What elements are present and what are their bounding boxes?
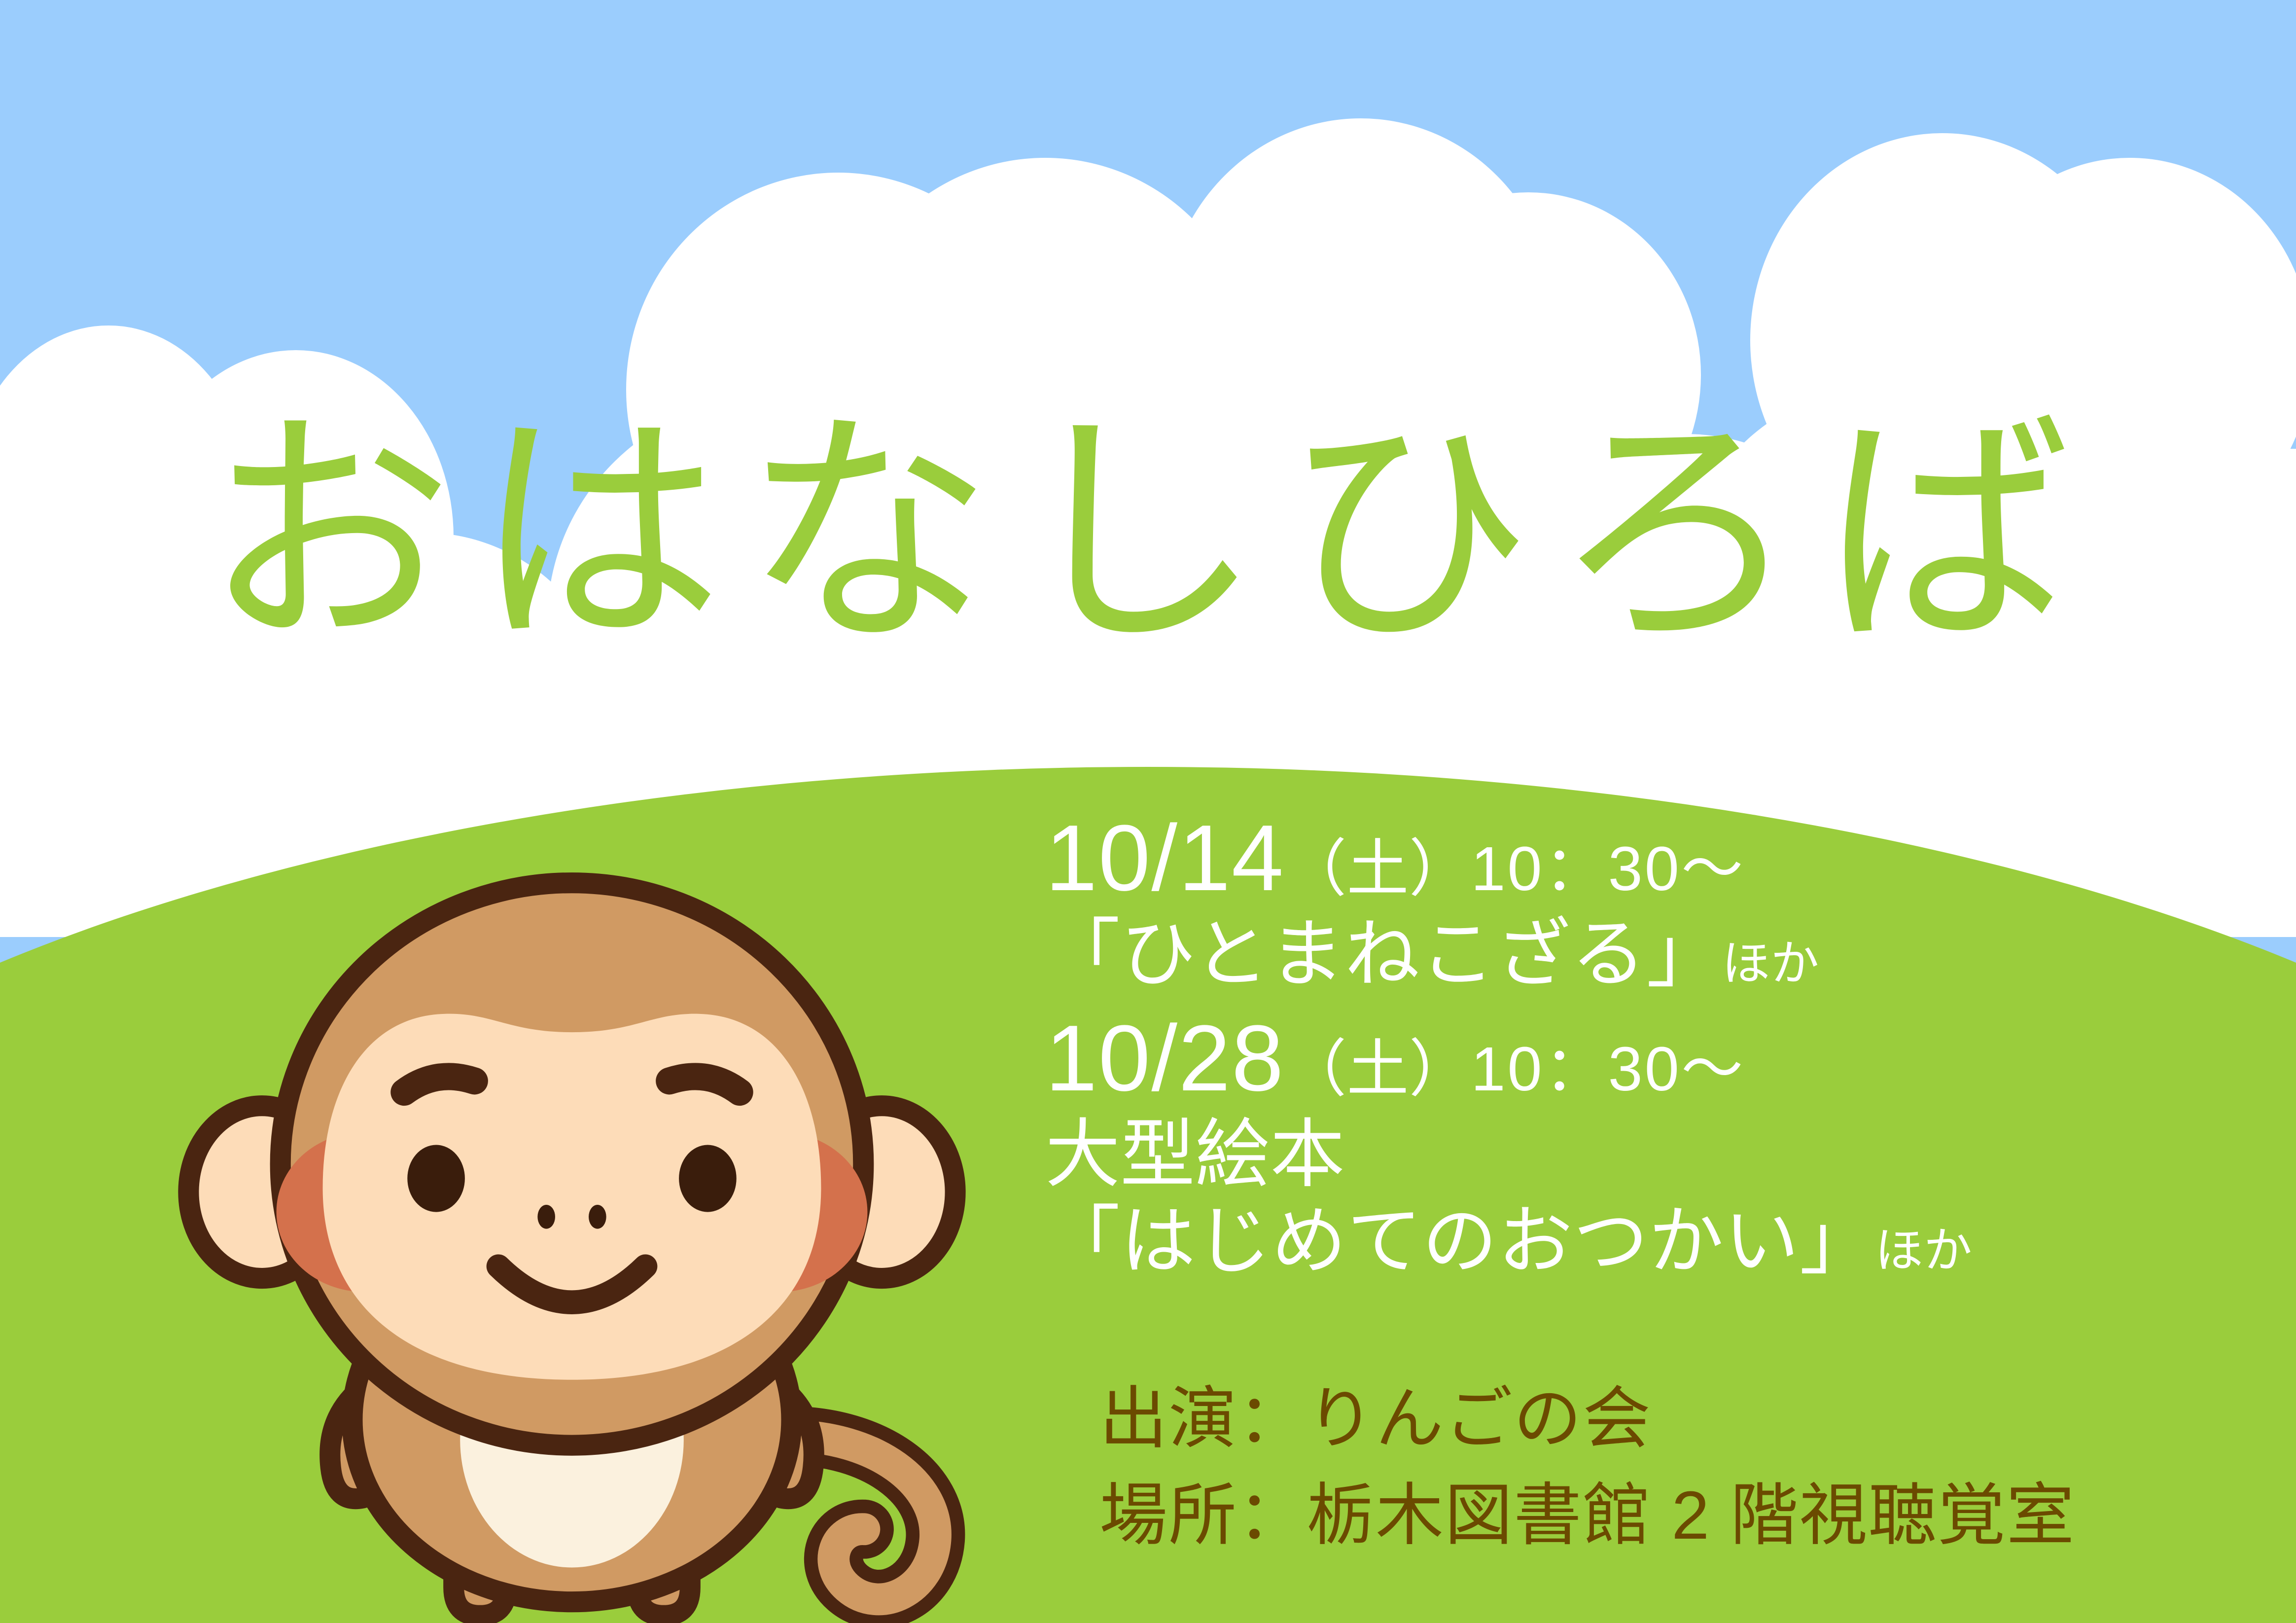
monkey-eye-left [407,1145,465,1212]
event-date: 10/28 [1045,1006,1284,1111]
monkey-eyebrow-left [404,1077,475,1092]
event-list: 10/14（土）10：30〜 「ひとまねこざる」ほか 10/28（土）10：30… [1045,809,2268,1296]
event-book-title: 「ひとまねこざる」 [1045,912,1722,996]
monkey-muzzle [323,1014,821,1380]
event-item: 10/28（土）10：30〜 大型絵本 「はじめてのおつかい」ほか [1045,1009,2268,1285]
monkey-illustration [173,829,971,1623]
event-header: 10/28（土）10：30〜 [1045,1009,2268,1108]
monkey-nostril-right [589,1205,606,1229]
venue-line: 場所：栃木図書館 2 階視聴覚室 [1099,1468,2283,1564]
performer-line: 出演：りんごの会 [1099,1371,2283,1468]
monkey-eye-right [679,1145,737,1212]
event-day-of-week: （土） [1284,1034,1471,1104]
monkey-nostril-left [537,1205,555,1229]
event-subtitle: 「ひとまねこざる」ほか [1045,911,2268,998]
poster-canvas: おはなしひろば [0,0,2296,1623]
event-time: 10：30〜 [1471,1034,1745,1104]
monkey-svg [173,829,971,1623]
event-suffix: ほか [1722,936,1819,990]
event-book-title: 「はじめてのおつかい」 [1045,1199,1875,1283]
event-header: 10/14（土）10：30〜 [1045,809,2268,908]
event-item: 10/14（土）10：30〜 「ひとまねこざる」ほか [1045,809,2268,998]
event-day-of-week: （土） [1284,834,1471,903]
event-subtitle: 大型絵本 「はじめてのおつかい」ほか [1045,1111,2268,1285]
event-suffix: ほか [1875,1223,1973,1277]
event-date: 10/14 [1045,806,1284,910]
footer-info: 出演：りんごの会 場所：栃木図書館 2 階視聴覚室 [1099,1371,2283,1564]
event-book-type: 大型絵本 [1045,1111,2268,1198]
page-title: おはなしひろば [0,409,2296,658]
event-time: 10：30〜 [1471,834,1745,903]
monkey-eyebrow-right [670,1077,740,1092]
